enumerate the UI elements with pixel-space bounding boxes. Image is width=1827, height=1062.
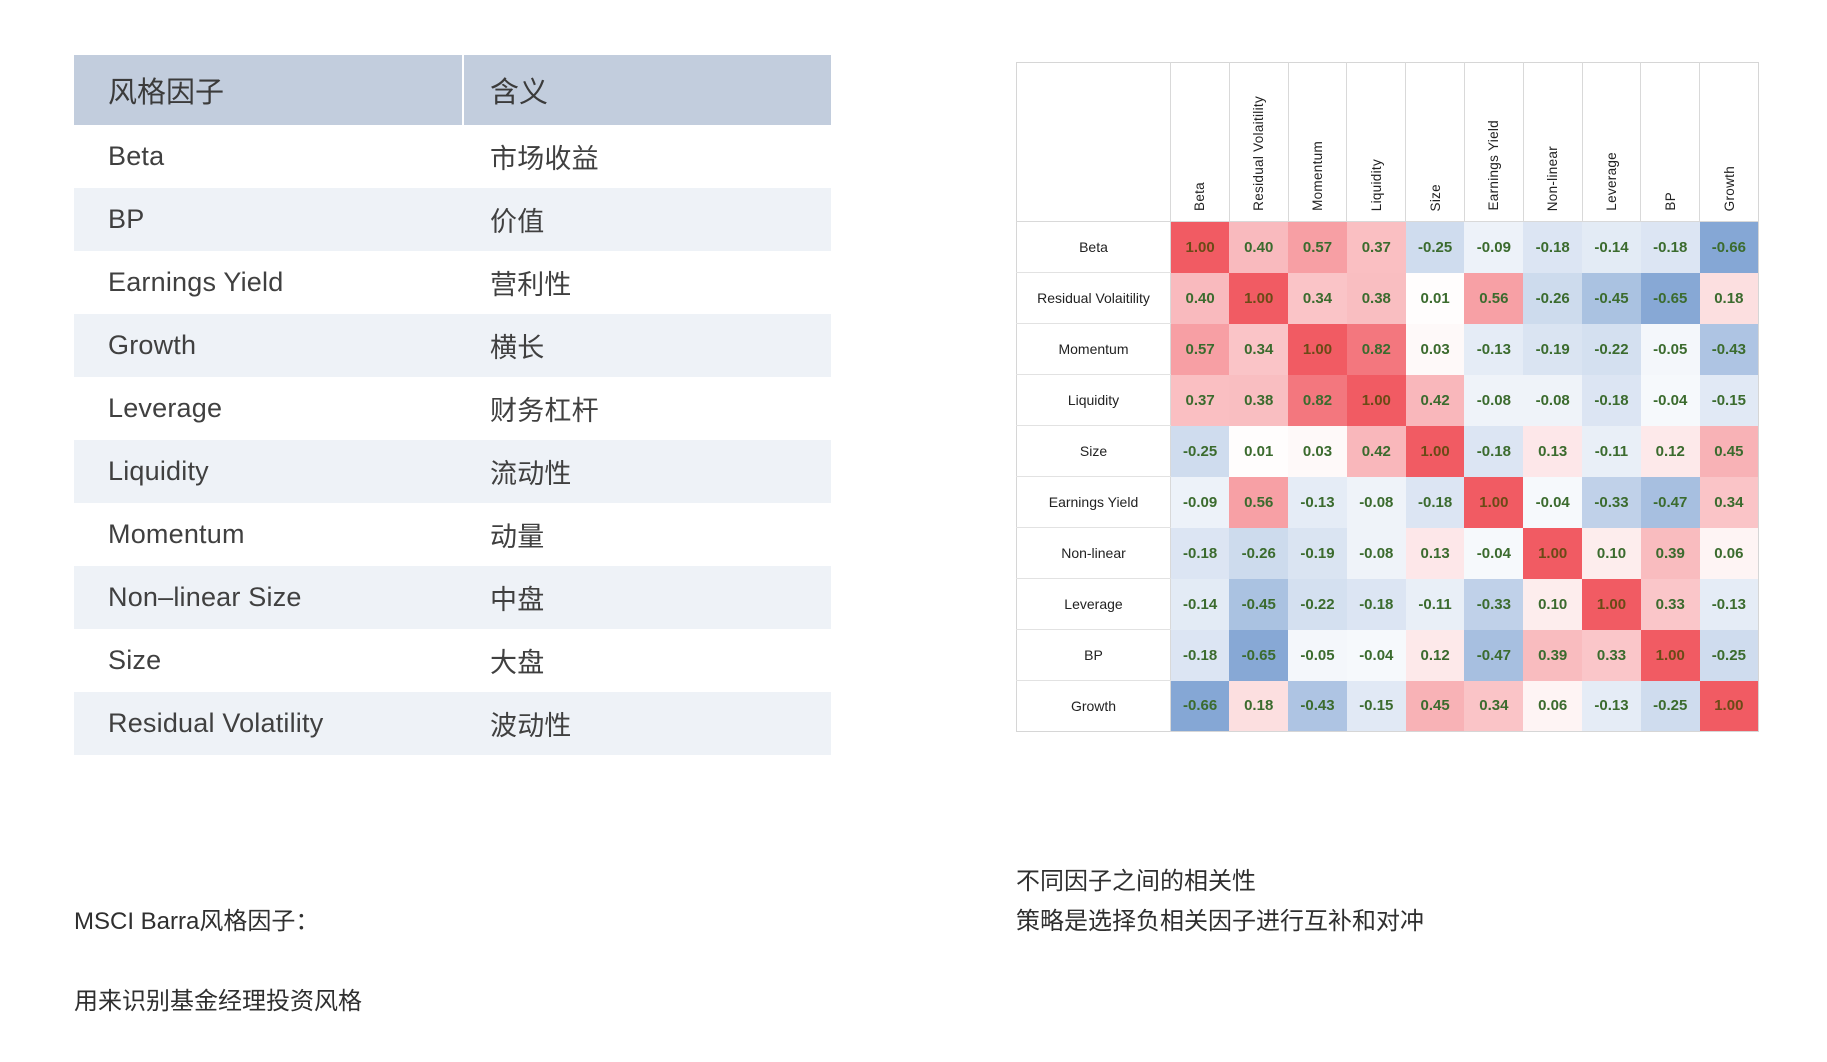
matrix-cell: -0.13 — [1700, 579, 1759, 630]
matrix-cell: 0.10 — [1523, 579, 1582, 630]
matrix-cell: -0.08 — [1347, 528, 1406, 579]
matrix-cell: -0.18 — [1523, 222, 1582, 273]
correlation-matrix-panel: BetaResidual VolaitilityMomentumLiquidit… — [1016, 62, 1758, 732]
matrix-cell: -0.04 — [1523, 477, 1582, 528]
correlation-matrix-table: BetaResidual VolaitilityMomentumLiquidit… — [1016, 62, 1759, 732]
matrix-row-header: Leverage — [1017, 579, 1171, 630]
matrix-column-header-label: BP — [1663, 192, 1678, 211]
matrix-cell: 0.03 — [1288, 426, 1347, 477]
matrix-cell: -0.13 — [1582, 681, 1641, 732]
matrix-row: Beta1.000.400.570.37-0.25-0.09-0.18-0.14… — [1017, 222, 1759, 273]
matrix-row-header: Earnings Yield — [1017, 477, 1171, 528]
matrix-cell: -0.09 — [1464, 222, 1523, 273]
matrix-cell: -0.19 — [1288, 528, 1347, 579]
matrix-row-header: Residual Volaitility — [1017, 273, 1171, 324]
matrix-cell: 0.06 — [1700, 528, 1759, 579]
matrix-row: Liquidity0.370.380.821.000.42-0.08-0.08-… — [1017, 375, 1759, 426]
matrix-column-header-label: Growth — [1722, 166, 1737, 211]
matrix-cell: 0.57 — [1288, 222, 1347, 273]
matrix-cell: 0.10 — [1582, 528, 1641, 579]
matrix-cell: 0.34 — [1288, 273, 1347, 324]
matrix-row: Size-0.250.010.030.421.00-0.180.13-0.110… — [1017, 426, 1759, 477]
cell-factor-meaning: 动量 — [462, 503, 831, 566]
matrix-cell: 1.00 — [1582, 579, 1641, 630]
table-row: Residual Volatility波动性 — [74, 692, 831, 755]
matrix-corner-cell — [1017, 63, 1171, 222]
matrix-cell: -0.14 — [1582, 222, 1641, 273]
left-caption-line-1: MSCI Barra风格因子： — [74, 902, 362, 942]
matrix-column-header: Liquidity — [1347, 63, 1406, 222]
matrix-row-header: Beta — [1017, 222, 1171, 273]
table-row: Size大盘 — [74, 629, 831, 692]
matrix-cell: 0.18 — [1229, 681, 1288, 732]
table-row: Earnings Yield营利性 — [74, 251, 831, 314]
matrix-cell: -0.09 — [1171, 477, 1230, 528]
matrix-cell: 0.34 — [1464, 681, 1523, 732]
style-factor-table-body: Beta市场收益BP价值Earnings Yield营利性Growth横长Lev… — [74, 125, 831, 755]
matrix-column-header-label: Beta — [1192, 182, 1207, 211]
matrix-row-header: Size — [1017, 426, 1171, 477]
cell-factor-name: Leverage — [74, 377, 462, 440]
matrix-cell: 0.13 — [1406, 528, 1465, 579]
matrix-cell: -0.05 — [1288, 630, 1347, 681]
cell-factor-meaning: 流动性 — [462, 440, 831, 503]
correlation-matrix-body: Beta1.000.400.570.37-0.25-0.09-0.18-0.14… — [1017, 222, 1759, 732]
matrix-cell: -0.25 — [1406, 222, 1465, 273]
matrix-cell: 0.40 — [1171, 273, 1230, 324]
matrix-column-header: Earnings Yield — [1464, 63, 1523, 222]
matrix-cell: -0.04 — [1641, 375, 1700, 426]
matrix-cell: -0.04 — [1347, 630, 1406, 681]
matrix-cell: -0.18 — [1406, 477, 1465, 528]
left-caption: MSCI Barra风格因子： 用来识别基金经理投资风格 — [74, 862, 362, 1062]
matrix-cell: -0.15 — [1347, 681, 1406, 732]
matrix-row-header: Non-linear — [1017, 528, 1171, 579]
cell-factor-meaning: 价值 — [462, 188, 831, 251]
matrix-column-header-label: Momentum — [1310, 141, 1325, 211]
matrix-cell: 0.37 — [1171, 375, 1230, 426]
matrix-cell: -0.18 — [1171, 630, 1230, 681]
matrix-cell: 0.38 — [1229, 375, 1288, 426]
matrix-cell: -0.66 — [1171, 681, 1230, 732]
matrix-cell: 1.00 — [1347, 375, 1406, 426]
matrix-column-header-label: Residual Volaitility — [1251, 96, 1266, 211]
matrix-cell: 0.56 — [1229, 477, 1288, 528]
matrix-cell: 0.18 — [1700, 273, 1759, 324]
table-row: Beta市场收益 — [74, 125, 831, 188]
cell-factor-meaning: 财务杠杆 — [462, 377, 831, 440]
matrix-cell: -0.11 — [1406, 579, 1465, 630]
matrix-cell: 0.45 — [1406, 681, 1465, 732]
matrix-row: BP-0.18-0.65-0.05-0.040.12-0.470.390.331… — [1017, 630, 1759, 681]
matrix-cell: -0.15 — [1700, 375, 1759, 426]
matrix-cell: 0.37 — [1347, 222, 1406, 273]
matrix-cell: -0.26 — [1229, 528, 1288, 579]
matrix-row: Residual Volaitility0.401.000.340.380.01… — [1017, 273, 1759, 324]
table-row: Momentum动量 — [74, 503, 831, 566]
cell-factor-meaning: 大盘 — [462, 629, 831, 692]
table-row: Non–linear Size中盘 — [74, 566, 831, 629]
cell-factor-name: Earnings Yield — [74, 251, 462, 314]
cell-factor-name: Residual Volatility — [74, 692, 462, 755]
matrix-cell: 1.00 — [1288, 324, 1347, 375]
matrix-cell: -0.22 — [1288, 579, 1347, 630]
matrix-cell: 0.34 — [1229, 324, 1288, 375]
matrix-cell: -0.04 — [1464, 528, 1523, 579]
matrix-cell: -0.45 — [1229, 579, 1288, 630]
matrix-cell: 0.06 — [1523, 681, 1582, 732]
matrix-cell: 1.00 — [1464, 477, 1523, 528]
matrix-cell: -0.25 — [1641, 681, 1700, 732]
matrix-cell: -0.05 — [1641, 324, 1700, 375]
matrix-cell: -0.11 — [1582, 426, 1641, 477]
matrix-row-header: Growth — [1017, 681, 1171, 732]
cell-factor-name: BP — [74, 188, 462, 251]
cell-factor-name: Momentum — [74, 503, 462, 566]
matrix-cell: -0.25 — [1171, 426, 1230, 477]
matrix-cell: 0.33 — [1582, 630, 1641, 681]
table-header-row: 风格因子 含义 — [74, 55, 831, 125]
matrix-cell: 1.00 — [1171, 222, 1230, 273]
matrix-column-header: Momentum — [1288, 63, 1347, 222]
matrix-row: Non-linear-0.18-0.26-0.19-0.080.13-0.041… — [1017, 528, 1759, 579]
cell-factor-name: Size — [74, 629, 462, 692]
cell-factor-meaning: 中盘 — [462, 566, 831, 629]
right-caption-line-1: 不同因子之间的相关性 — [1016, 862, 1424, 902]
matrix-cell: -0.47 — [1464, 630, 1523, 681]
style-factor-table: 风格因子 含义 Beta市场收益BP价值Earnings Yield营利性Gro… — [74, 55, 831, 755]
column-header-factor: 风格因子 — [74, 55, 462, 125]
matrix-column-header: Residual Volaitility — [1229, 63, 1288, 222]
style-factor-panel: 风格因子 含义 Beta市场收益BP价值Earnings Yield营利性Gro… — [74, 55, 831, 755]
left-caption-line-2: 用来识别基金经理投资风格 — [74, 982, 362, 1022]
matrix-row-header: BP — [1017, 630, 1171, 681]
matrix-cell: 1.00 — [1523, 528, 1582, 579]
matrix-cell: 0.82 — [1347, 324, 1406, 375]
matrix-cell: -0.08 — [1347, 477, 1406, 528]
table-row: Growth横长 — [74, 314, 831, 377]
matrix-column-header-label: Liquidity — [1369, 159, 1384, 211]
matrix-cell: 0.38 — [1347, 273, 1406, 324]
matrix-cell: 0.12 — [1641, 426, 1700, 477]
matrix-cell: 0.33 — [1641, 579, 1700, 630]
matrix-cell: 0.45 — [1700, 426, 1759, 477]
matrix-cell: 0.42 — [1406, 375, 1465, 426]
matrix-column-header: Growth — [1700, 63, 1759, 222]
matrix-cell: -0.13 — [1288, 477, 1347, 528]
matrix-cell: -0.43 — [1288, 681, 1347, 732]
matrix-cell: 0.12 — [1406, 630, 1465, 681]
matrix-cell: -0.18 — [1464, 426, 1523, 477]
matrix-cell: 1.00 — [1641, 630, 1700, 681]
matrix-row: Momentum0.570.341.000.820.03-0.13-0.19-0… — [1017, 324, 1759, 375]
cell-factor-meaning: 营利性 — [462, 251, 831, 314]
matrix-cell: -0.18 — [1347, 579, 1406, 630]
matrix-cell: 0.34 — [1700, 477, 1759, 528]
matrix-column-header: Size — [1406, 63, 1465, 222]
matrix-cell: 0.40 — [1229, 222, 1288, 273]
table-row: Leverage财务杠杆 — [74, 377, 831, 440]
matrix-cell: -0.13 — [1464, 324, 1523, 375]
matrix-cell: -0.19 — [1523, 324, 1582, 375]
matrix-column-header-label: Leverage — [1604, 152, 1619, 211]
matrix-header-row: BetaResidual VolaitilityMomentumLiquidit… — [1017, 63, 1759, 222]
column-header-meaning: 含义 — [462, 55, 831, 125]
matrix-cell: -0.26 — [1523, 273, 1582, 324]
matrix-cell: 0.03 — [1406, 324, 1465, 375]
style-factor-table-head: 风格因子 含义 — [74, 55, 831, 125]
matrix-row-header: Momentum — [1017, 324, 1171, 375]
matrix-cell: 1.00 — [1229, 273, 1288, 324]
correlation-matrix-head: BetaResidual VolaitilityMomentumLiquidit… — [1017, 63, 1759, 222]
matrix-cell: 0.42 — [1347, 426, 1406, 477]
cell-factor-meaning: 波动性 — [462, 692, 831, 755]
matrix-cell: -0.47 — [1641, 477, 1700, 528]
matrix-column-header: Non-linear — [1523, 63, 1582, 222]
matrix-row: Leverage-0.14-0.45-0.22-0.18-0.11-0.330.… — [1017, 579, 1759, 630]
matrix-cell: -0.66 — [1700, 222, 1759, 273]
matrix-cell: -0.25 — [1700, 630, 1759, 681]
table-row: BP价值 — [74, 188, 831, 251]
table-row: Liquidity流动性 — [74, 440, 831, 503]
cell-factor-name: Beta — [74, 125, 462, 188]
matrix-cell: -0.08 — [1464, 375, 1523, 426]
matrix-cell: -0.65 — [1229, 630, 1288, 681]
right-caption: 不同因子之间的相关性 策略是选择负相关因子进行互补和对冲 — [1016, 862, 1424, 942]
matrix-cell: -0.18 — [1582, 375, 1641, 426]
matrix-cell: 0.57 — [1171, 324, 1230, 375]
matrix-cell: 0.56 — [1464, 273, 1523, 324]
cell-factor-meaning: 横长 — [462, 314, 831, 377]
matrix-row-header: Liquidity — [1017, 375, 1171, 426]
matrix-column-header: Leverage — [1582, 63, 1641, 222]
matrix-cell: -0.18 — [1641, 222, 1700, 273]
matrix-cell: 0.39 — [1641, 528, 1700, 579]
cell-factor-name: Liquidity — [74, 440, 462, 503]
matrix-column-header-label: Earnings Yield — [1486, 120, 1501, 211]
matrix-cell: -0.43 — [1700, 324, 1759, 375]
matrix-cell: -0.14 — [1171, 579, 1230, 630]
cell-factor-name: Growth — [74, 314, 462, 377]
matrix-cell: -0.08 — [1523, 375, 1582, 426]
matrix-cell: -0.22 — [1582, 324, 1641, 375]
matrix-cell: 1.00 — [1700, 681, 1759, 732]
cell-factor-meaning: 市场收益 — [462, 125, 831, 188]
matrix-cell: 1.00 — [1406, 426, 1465, 477]
matrix-cell: 0.39 — [1523, 630, 1582, 681]
matrix-column-header-label: Size — [1428, 184, 1443, 211]
matrix-cell: -0.33 — [1582, 477, 1641, 528]
matrix-cell: 0.01 — [1229, 426, 1288, 477]
matrix-row: Growth-0.660.18-0.43-0.150.450.340.06-0.… — [1017, 681, 1759, 732]
matrix-cell: -0.45 — [1582, 273, 1641, 324]
matrix-cell: -0.18 — [1171, 528, 1230, 579]
matrix-cell: -0.65 — [1641, 273, 1700, 324]
cell-factor-name: Non–linear Size — [74, 566, 462, 629]
matrix-column-header: Beta — [1171, 63, 1230, 222]
matrix-column-header: BP — [1641, 63, 1700, 222]
matrix-cell: 0.82 — [1288, 375, 1347, 426]
matrix-cell: 0.13 — [1523, 426, 1582, 477]
matrix-cell: 0.01 — [1406, 273, 1465, 324]
matrix-row: Earnings Yield-0.090.56-0.13-0.08-0.181.… — [1017, 477, 1759, 528]
matrix-cell: -0.33 — [1464, 579, 1523, 630]
right-caption-line-2: 策略是选择负相关因子进行互补和对冲 — [1016, 902, 1424, 942]
matrix-column-header-label: Non-linear — [1545, 146, 1560, 211]
